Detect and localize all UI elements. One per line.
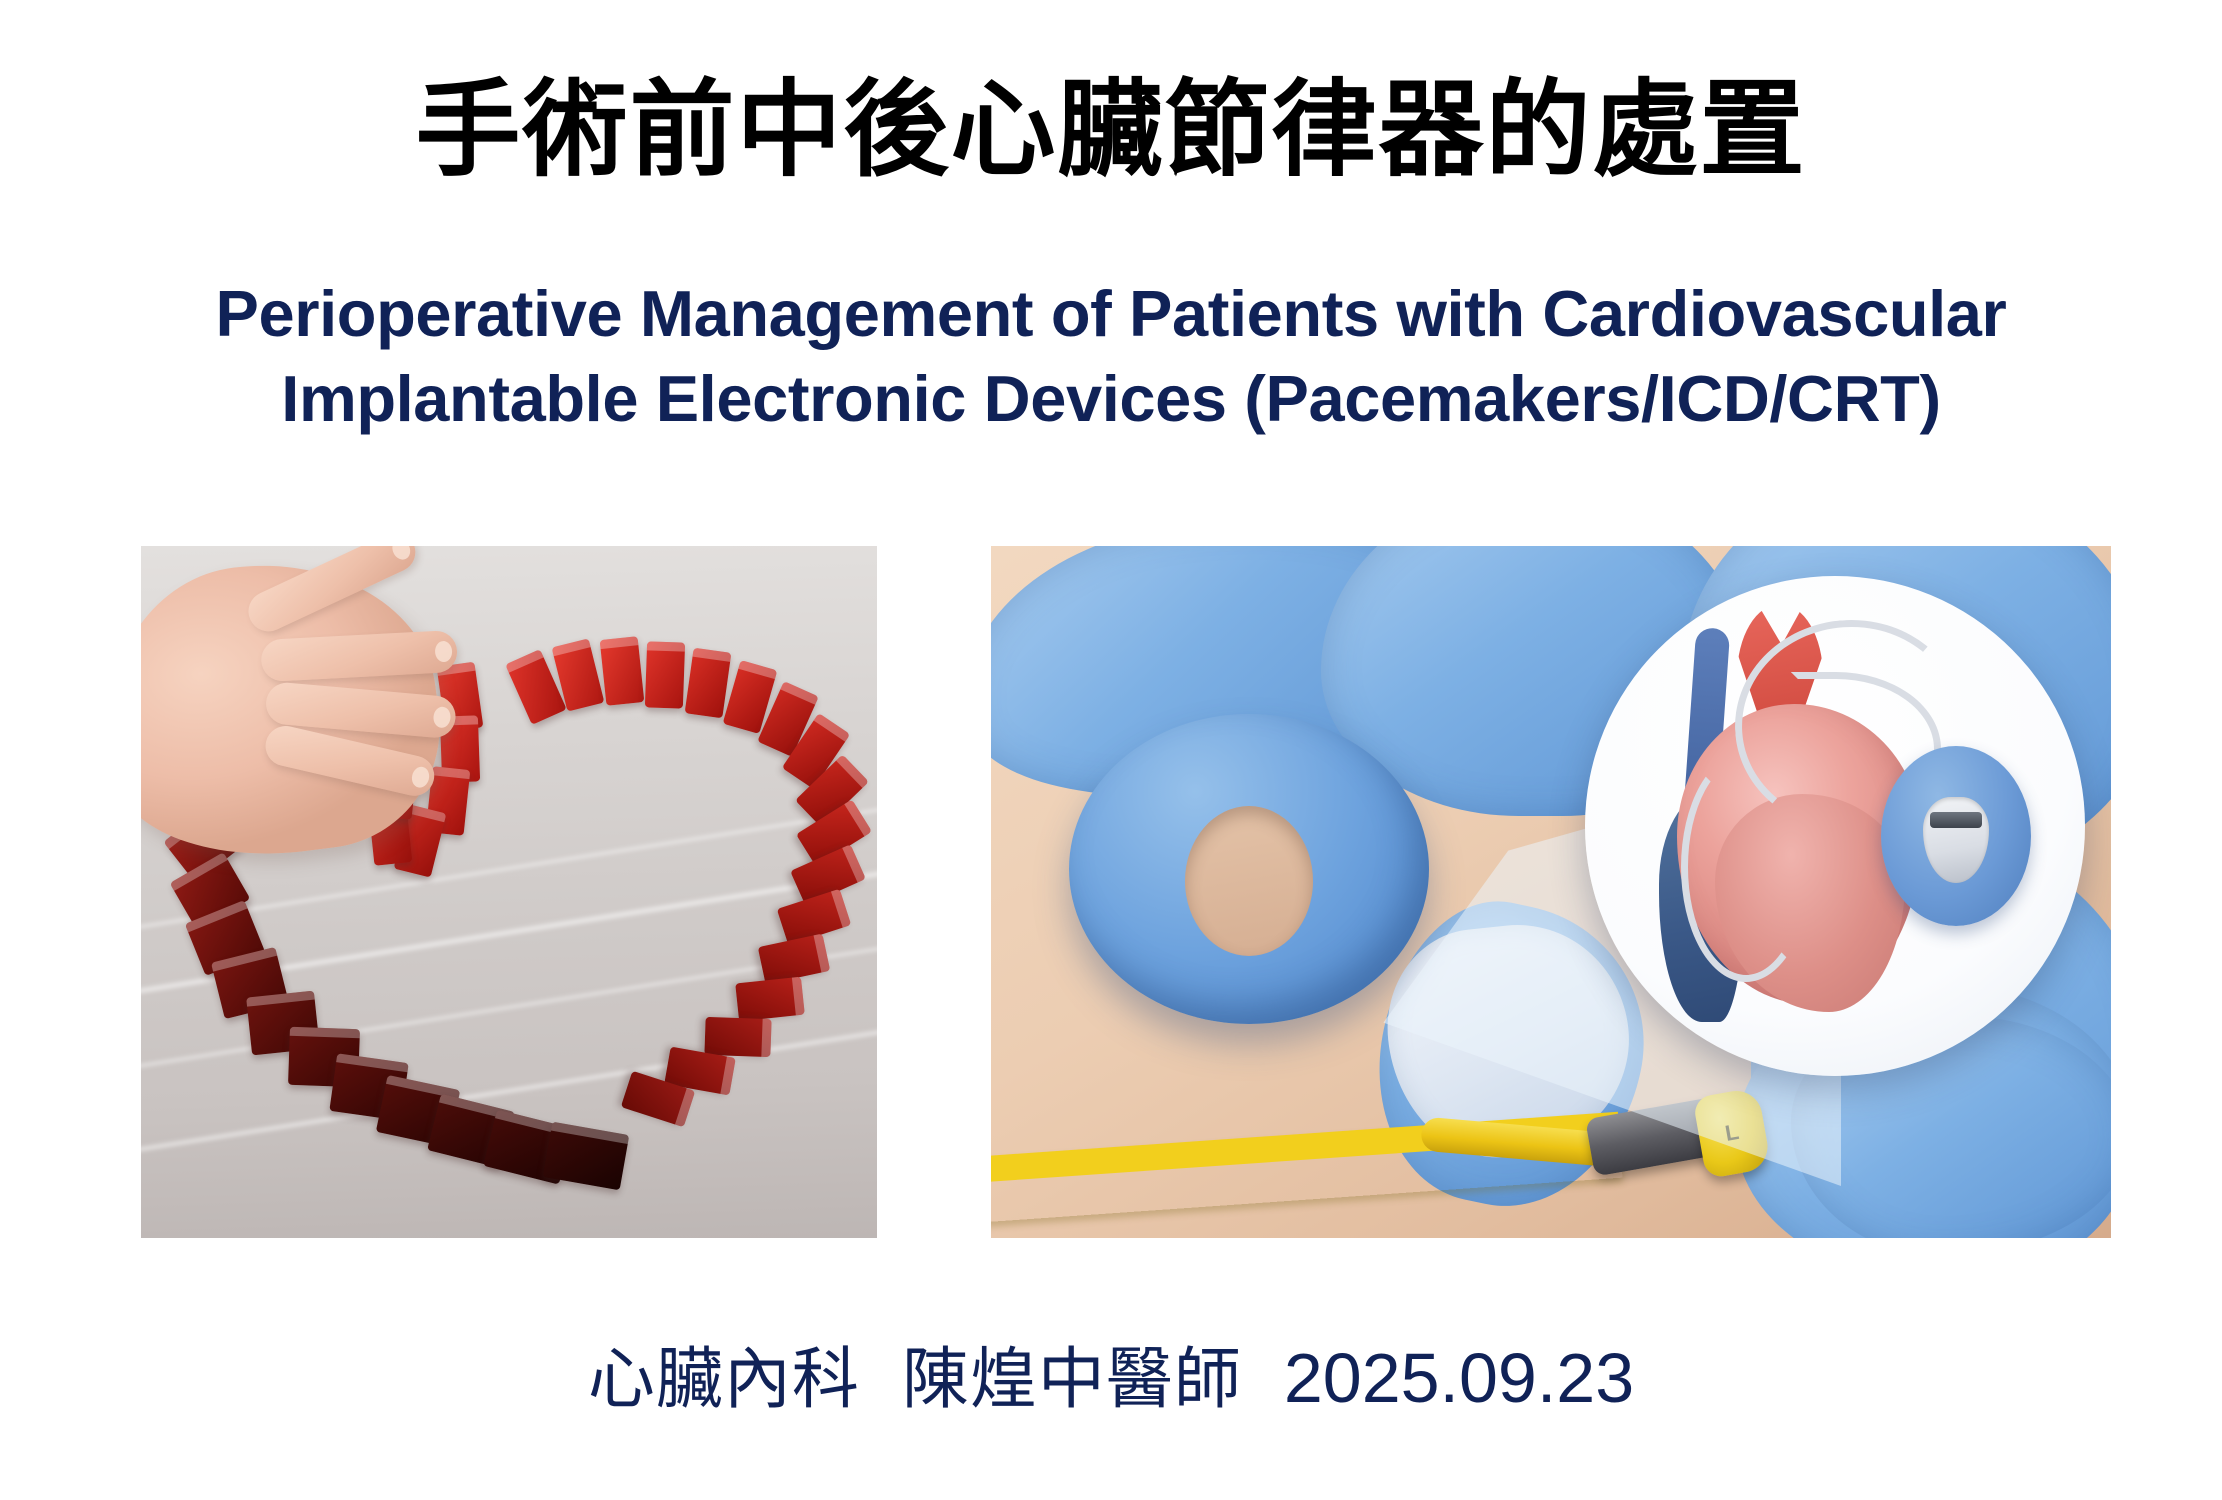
slide-title-chinese: 手術前中後心臟節律器的處置 <box>0 74 2222 187</box>
fingernail <box>389 546 413 563</box>
domino-piece <box>704 1017 771 1057</box>
image-pacemaker-procedure: L <box>991 546 2111 1238</box>
pacemaker-device <box>1881 746 2031 926</box>
slide-title-english-line-2: Implantable Electronic Devices (Pacemake… <box>14 357 2208 442</box>
presentation-date: 2025.09.23 <box>1284 1339 1634 1417</box>
slide-title-english-line-1: Perioperative Management of Patients wit… <box>216 277 2007 350</box>
pacemaker-generator <box>1923 797 1989 883</box>
ring-magnet-hole <box>1185 806 1313 956</box>
slide-footer: 心臟內科陳煌中醫師2025.09.23 <box>0 1325 2222 1422</box>
presentation-slide: 手術前中後心臟節律器的處置 Perioperative Management o… <box>0 0 2222 1500</box>
pacing-lead-ventricular <box>1681 752 1811 982</box>
slide-title-english: Perioperative Management of Patients wit… <box>14 272 2208 441</box>
ring-magnet <box>1069 714 1429 1024</box>
heart-anatomy-inset <box>1585 576 2085 1076</box>
finger-middle <box>260 630 458 682</box>
fingernail <box>410 765 431 789</box>
domino-piece <box>735 977 805 1022</box>
presenter-department: 心臟內科 <box>588 1340 860 1418</box>
presenter-name: 陳煌中醫師 <box>902 1340 1242 1418</box>
domino-piece <box>645 641 685 708</box>
fingernail <box>435 641 453 663</box>
fingernail <box>433 706 452 728</box>
pacemaker-header <box>1930 812 1982 828</box>
domino-piece <box>600 636 645 706</box>
image-domino-heart <box>141 546 877 1238</box>
